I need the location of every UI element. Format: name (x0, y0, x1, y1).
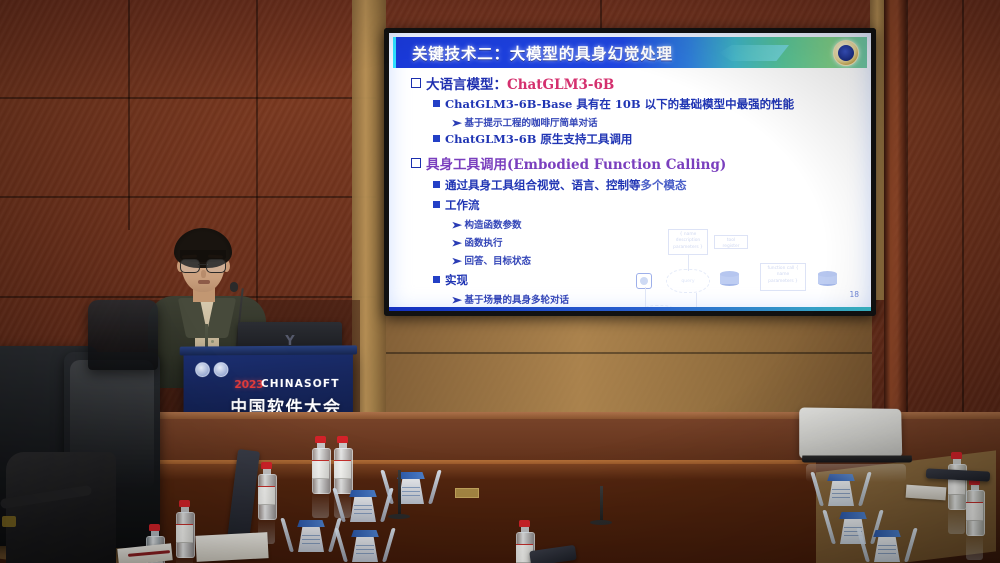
table-microphone-base (590, 520, 612, 525)
conference-room-photo: 关键技术二：大模型的具身幻觉处理 ★ 大语言模型：ChatGLM3-6B Cha… (0, 0, 1000, 563)
slide-body: 大语言模型：ChatGLM3-6B ChatGLM3-6B-Base 具有在 1… (389, 69, 871, 303)
slide-title-bar: 关键技术二：大模型的具身幻觉处理 ★ (393, 37, 867, 68)
diagram-connector (696, 293, 697, 307)
microphone-head-icon (230, 282, 238, 292)
wall-seam (0, 196, 376, 198)
bullet-l3-build-args: ➤构造函数参数 (453, 217, 522, 231)
slide-page-number: 18 (849, 290, 859, 299)
diagram-node-model-a (720, 271, 739, 287)
podium-year: 2023 (234, 378, 263, 391)
wall-seam (962, 0, 964, 430)
macbook-reflection (806, 464, 906, 482)
glasses-lens-right (206, 259, 226, 273)
name-card-holder[interactable] (344, 528, 386, 562)
title-decoration (719, 45, 789, 61)
macbook-laptop[interactable] (800, 408, 912, 470)
arrow-bullet-icon: ➤ (451, 221, 462, 231)
bullet-l3-exec: ➤函数执行 (453, 235, 503, 249)
host-logo-icon (214, 362, 229, 377)
wall-seam (128, 0, 130, 230)
wall-lower-band (386, 300, 872, 418)
paper-sheet[interactable] (195, 532, 268, 562)
filled-square-bullet-icon (433, 181, 440, 188)
hollow-square-bullet-icon (411, 78, 421, 88)
bullet-l2-native-tool: ChatGLM3-6B 原生支持工具调用 (433, 131, 632, 147)
filled-square-bullet-icon (433, 276, 440, 283)
slide-footer-line (389, 307, 871, 311)
name-card-holder[interactable] (390, 470, 432, 504)
bullet-l3-scene-dialog: ➤基于场景的具身多轮对话 (453, 292, 569, 306)
macbook-base (802, 456, 913, 463)
diagram-node-function-call: function call { name parameters } (760, 263, 806, 291)
macbook-lid (799, 407, 902, 458)
bullet-l3-answer-state: ➤回答、目标状态 (453, 253, 531, 267)
mouth (198, 280, 210, 284)
diagram-connector (688, 255, 689, 271)
arrow-bullet-icon: ➤ (451, 257, 462, 267)
paper-sheet[interactable] (906, 485, 947, 501)
table-microphone-base (388, 514, 410, 519)
table-microphone-stem (398, 470, 401, 516)
bullet-l2-workflow: 工作流 (433, 197, 480, 213)
name-card-holder[interactable] (866, 528, 908, 562)
diagram-node-query: query (666, 269, 710, 293)
bullet-l2-implementation: 实现 (433, 272, 468, 288)
name-card-holder[interactable] (342, 488, 384, 522)
arrow-bullet-icon: ➤ (451, 296, 462, 306)
filled-square-bullet-icon (433, 100, 440, 107)
arrow-bullet-icon: ➤ (451, 119, 462, 129)
diagram-node-tool-register: tool register (714, 235, 748, 249)
function-calling-flow-diagram: { name description parameters } tool reg… (632, 229, 862, 311)
slide-canvas: 关键技术二：大模型的具身幻觉处理 ★ 大语言模型：ChatGLM3-6B Cha… (389, 33, 871, 311)
bullet-l3-prompt-cafe: ➤基于提示工程的咖啡厅简单对话 (453, 115, 598, 129)
emblem-star: ★ (842, 49, 851, 58)
black-backpack (6, 452, 116, 563)
diagram-node-user-phone (636, 273, 652, 289)
nose (201, 270, 206, 278)
ccf-logo-icon (195, 362, 210, 377)
diagram-node-model-b (818, 271, 837, 287)
bullet-l1-embodied: 具身工具调用(Embodied Function Calling) (411, 153, 726, 173)
table-nameplate (455, 488, 479, 498)
backpack-badge (2, 516, 16, 527)
bullet-l1-llm: 大语言模型：ChatGLM3-6B (411, 73, 614, 93)
university-emblem: ★ (833, 40, 859, 66)
wall-seam (386, 352, 872, 354)
podium-top-edge (180, 345, 357, 355)
wall-seam (906, 0, 908, 430)
diagram-node-schema: { name description parameters } (668, 229, 708, 255)
bullet-l2-multimodal: 通过具身工具组合视觉、语言、控制等多个模态 (433, 177, 687, 193)
jacket-button (211, 340, 214, 343)
table-microphone-stem (600, 486, 603, 522)
wall-panel-edge (884, 0, 906, 430)
slide-title: 关键技术二：大模型的具身幻觉处理 (412, 42, 673, 64)
office-chair[interactable] (88, 300, 158, 370)
wall-seam (600, 0, 602, 30)
presentation-display[interactable]: 关键技术二：大模型的具身幻觉处理 ★ 大语言模型：ChatGLM3-6B Cha… (384, 28, 876, 316)
diagram-connector (645, 287, 646, 307)
bullet-l2-base-perf: ChatGLM3-6B-Base 具有在 10B 以下的基础模型中最强的性能 (433, 96, 794, 112)
hollow-square-bullet-icon (411, 158, 421, 168)
glasses-lens-left (180, 259, 200, 273)
arrow-bullet-icon: ➤ (451, 239, 462, 249)
podium-brand: CHINASOFT (261, 378, 340, 390)
filled-square-bullet-icon (433, 135, 440, 142)
filled-square-bullet-icon (433, 201, 440, 208)
wall-seam (0, 97, 376, 99)
name-card-holder[interactable] (290, 518, 332, 552)
